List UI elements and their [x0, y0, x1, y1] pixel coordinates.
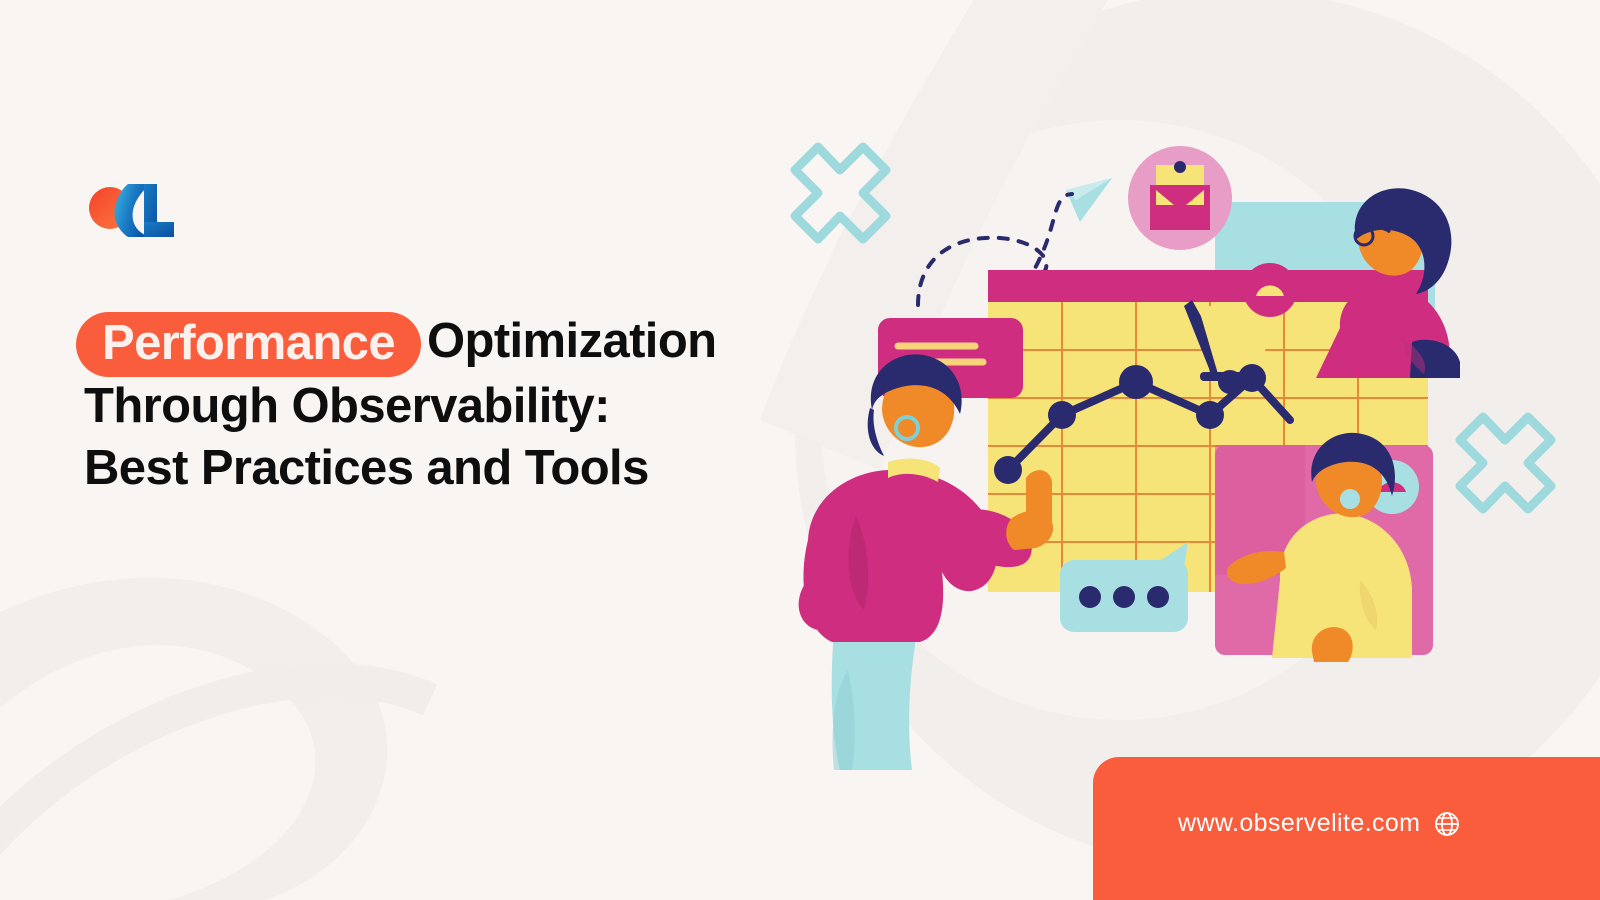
chart-point	[1048, 401, 1076, 429]
envelope-icon	[1150, 161, 1210, 230]
video-call-analytics-illustration	[760, 110, 1600, 770]
bg-swirl-bottom-left	[0, 578, 387, 900]
headline-line-1: PerformanceOptimization	[84, 310, 844, 375]
headline-line-3: Best Practices and Tools	[84, 437, 844, 499]
chart-point	[1238, 364, 1266, 392]
dot	[1079, 586, 1101, 608]
paper-plane-icon	[1066, 178, 1112, 222]
dot	[1147, 586, 1169, 608]
chart-point	[994, 456, 1022, 484]
earring-icon	[1340, 489, 1360, 509]
website-url-text: www.observelite.com	[1178, 809, 1420, 838]
chart-point	[1119, 365, 1153, 399]
email-badge	[1128, 146, 1232, 250]
globe-icon	[1434, 811, 1460, 837]
headline-line-1-rest: Optimization	[427, 314, 717, 368]
website-url-bar[interactable]: www.observelite.com	[1093, 757, 1600, 900]
cross-decoration-right-icon	[1460, 417, 1551, 509]
bg-swirl-stroke	[0, 680, 430, 900]
logo-l-foot-icon	[144, 222, 174, 237]
headline: PerformanceOptimization Through Observab…	[84, 310, 844, 499]
chart-point	[1196, 401, 1224, 429]
observelite-logo[interactable]	[84, 165, 204, 255]
dot	[1113, 586, 1135, 608]
headline-highlight-pill: Performance	[76, 312, 421, 377]
cross-decoration-left-icon	[795, 147, 886, 239]
banner-root: PerformanceOptimization Through Observab…	[0, 0, 1600, 900]
headline-line-2: Through Observability:	[84, 375, 844, 437]
